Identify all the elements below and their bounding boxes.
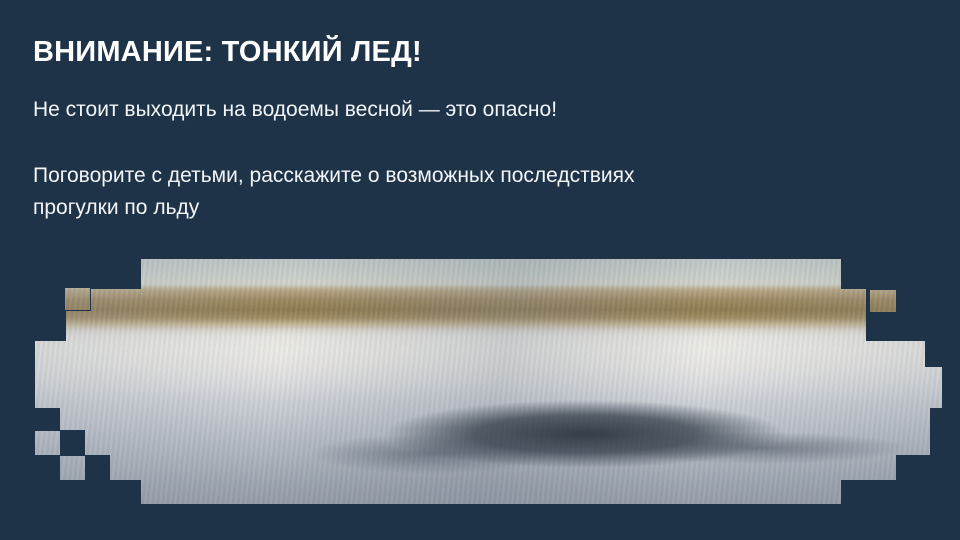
photo-tile (35, 341, 925, 367)
page-title: ВНИМАНИЕ: ТОНКИЙ ЛЕД! (33, 36, 793, 70)
photo-tile-image (35, 367, 942, 408)
photo-tile-image (60, 408, 930, 430)
photo-tile (65, 288, 90, 310)
photo-tile (110, 455, 870, 480)
frozen-lake-photo (0, 248, 960, 516)
photo-tile-image (895, 366, 923, 408)
photo-tile (35, 431, 60, 455)
photo-tile (85, 430, 930, 455)
photo-tile (895, 366, 923, 408)
photo-tile (66, 311, 866, 341)
photo-tile (35, 367, 942, 408)
subheadline-text: Не стоит выходить на водоемы весной — эт… (33, 96, 793, 124)
photo-tile-image (141, 480, 841, 504)
photo-tile-image (60, 456, 85, 480)
photo-tile-image (35, 431, 60, 455)
photo-tile-image (91, 289, 866, 311)
photo-tile (91, 289, 866, 311)
photo-tile-image (66, 311, 866, 341)
slide-canvas: ВНИМАНИЕ: ТОНКИЙ ЛЕД! Не стоит выходить … (0, 0, 960, 540)
photo-tile-image (110, 455, 870, 480)
photo-tile (60, 456, 85, 480)
photo-tile (60, 408, 930, 430)
photo-tile (141, 480, 841, 504)
photo-tile (870, 455, 896, 480)
photo-tile-image (35, 341, 925, 367)
photo-tile-image (141, 259, 841, 289)
photo-tile (141, 259, 841, 289)
photo-tile-image (85, 430, 930, 455)
body-paragraph-text: Поговорите с детьми, расскажите о возмож… (33, 160, 673, 224)
text-block: ВНИМАНИЕ: ТОНКИЙ ЛЕД! Не стоит выходить … (33, 36, 793, 224)
photo-tile (870, 290, 896, 312)
photo-tile-image (65, 288, 90, 310)
photo-tile-image (870, 290, 896, 312)
photo-tile-image (870, 455, 896, 480)
